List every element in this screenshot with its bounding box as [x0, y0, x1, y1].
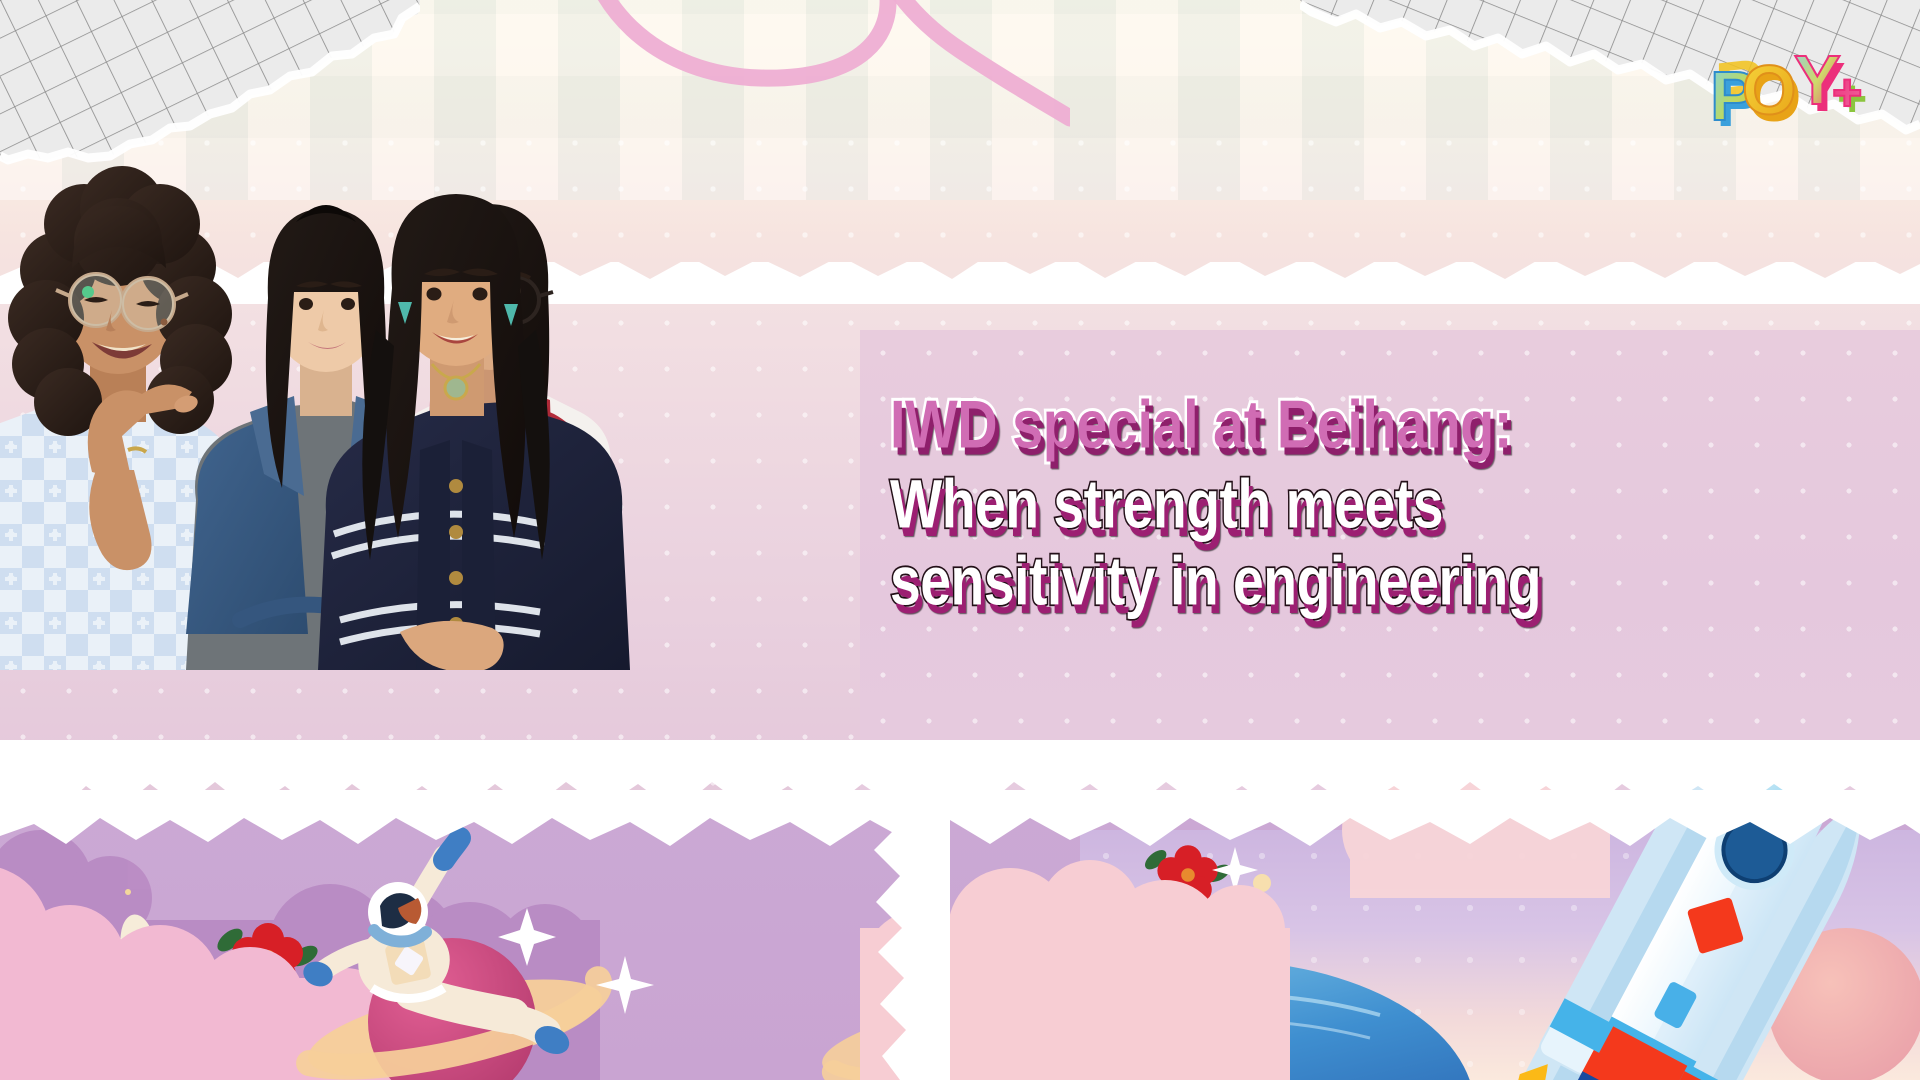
team-photo — [0, 150, 900, 670]
logo-text: POY+ — [1702, 36, 1705, 37]
headline-block: IWD special at Beihang: When strength me… — [890, 392, 1570, 605]
torn-edge-vertical — [820, 780, 950, 1080]
cloud-pink-back-right — [1342, 770, 1610, 898]
svg-text:+: + — [1832, 64, 1862, 122]
banner-canvas: IWD special at Beihang: When strength me… — [0, 0, 1920, 1080]
headline-line-2: When strength meets — [890, 471, 1550, 539]
ribbon-decoration — [430, 0, 1070, 140]
dot-sparkle-small — [125, 889, 131, 895]
sparkle-icon-center — [590, 950, 660, 1020]
poy-plus-logo[interactable]: P P P O O Y Y + + POY+ — [1702, 36, 1872, 136]
headline-line-3: sensitivity in engineering — [890, 548, 1550, 616]
headline-line-1: IWD special at Beihang: — [890, 392, 1556, 459]
svg-text:O: O — [1742, 51, 1796, 129]
